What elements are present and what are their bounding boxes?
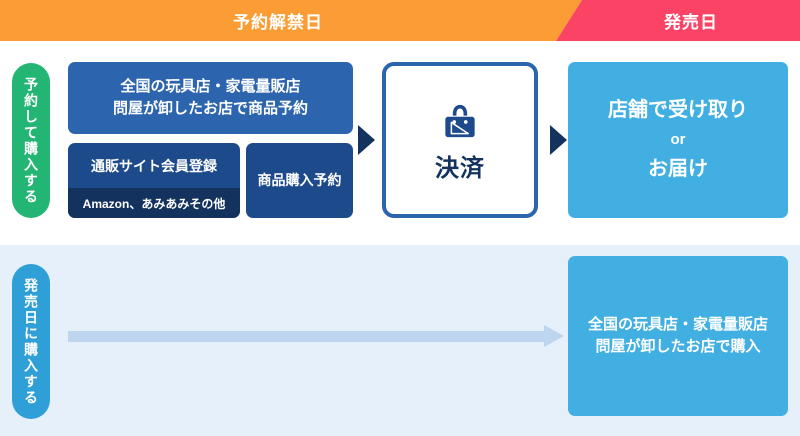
side-pill-preorder: 予約して購入する xyxy=(12,63,50,218)
triangle-right-arrow-icon-1 xyxy=(358,125,375,155)
side-pill-release-day-label: 発売日に購入する xyxy=(24,278,38,406)
long-arrow-head xyxy=(544,325,564,347)
box-store-reservation-line1: 全国の玩具店・家電量販店 xyxy=(120,76,300,98)
box-receive-or: or xyxy=(671,129,686,152)
header-label-release-date: 発売日 xyxy=(664,8,718,33)
box-member-registration-subtitle: Amazon、あみあみその他 xyxy=(68,188,240,218)
box-product-purchase-reservation: 商品購入予約 xyxy=(246,143,353,218)
box-receive-line1: 店舗で受け取り xyxy=(608,96,748,125)
box-release-day-purchase-line1: 全国の玩具店・家電量販店 xyxy=(588,314,768,336)
side-pill-preorder-label: 予約して購入する xyxy=(24,77,38,205)
shopping-bag-icon xyxy=(437,98,483,144)
box-member-registration: 通販サイト会員登録 Amazon、あみあみその他 xyxy=(68,143,240,218)
long-right-arrow-icon xyxy=(68,325,564,347)
box-member-registration-title: 通販サイト会員登録 xyxy=(91,156,217,176)
box-store-reservation-line2: 問屋が卸したお店で商品予約 xyxy=(113,98,308,120)
box-product-purchase-reservation-label: 商品購入予約 xyxy=(258,170,342,190)
header-segment-preorder-date: 予約解禁日 xyxy=(0,0,582,41)
box-receive-options: 店舗で受け取り or お届け xyxy=(568,62,788,218)
box-payment-label: 決済 xyxy=(435,148,485,183)
flow-diagram: 予約解禁日 発売日 予約して購入する 発売日に購入する 全国の玩具店・家電量販店… xyxy=(0,0,800,436)
triangle-right-arrow-icon-2 xyxy=(550,125,567,155)
header-segment-release-date: 発売日 xyxy=(556,0,800,41)
side-pill-release-day: 発売日に購入する xyxy=(12,264,50,419)
box-store-reservation: 全国の玩具店・家電量販店 問屋が卸したお店で商品予約 xyxy=(68,62,353,134)
timeline-header: 予約解禁日 発売日 xyxy=(0,0,800,41)
box-release-day-purchase: 全国の玩具店・家電量販店 問屋が卸したお店で購入 xyxy=(568,256,788,416)
box-payment: 決済 xyxy=(382,62,538,218)
box-receive-line2: お届け xyxy=(648,155,708,184)
long-arrow-shaft xyxy=(68,331,546,342)
header-label-preorder-date: 予約解禁日 xyxy=(233,8,323,33)
box-release-day-purchase-line2: 問屋が卸したお店で購入 xyxy=(595,336,760,358)
